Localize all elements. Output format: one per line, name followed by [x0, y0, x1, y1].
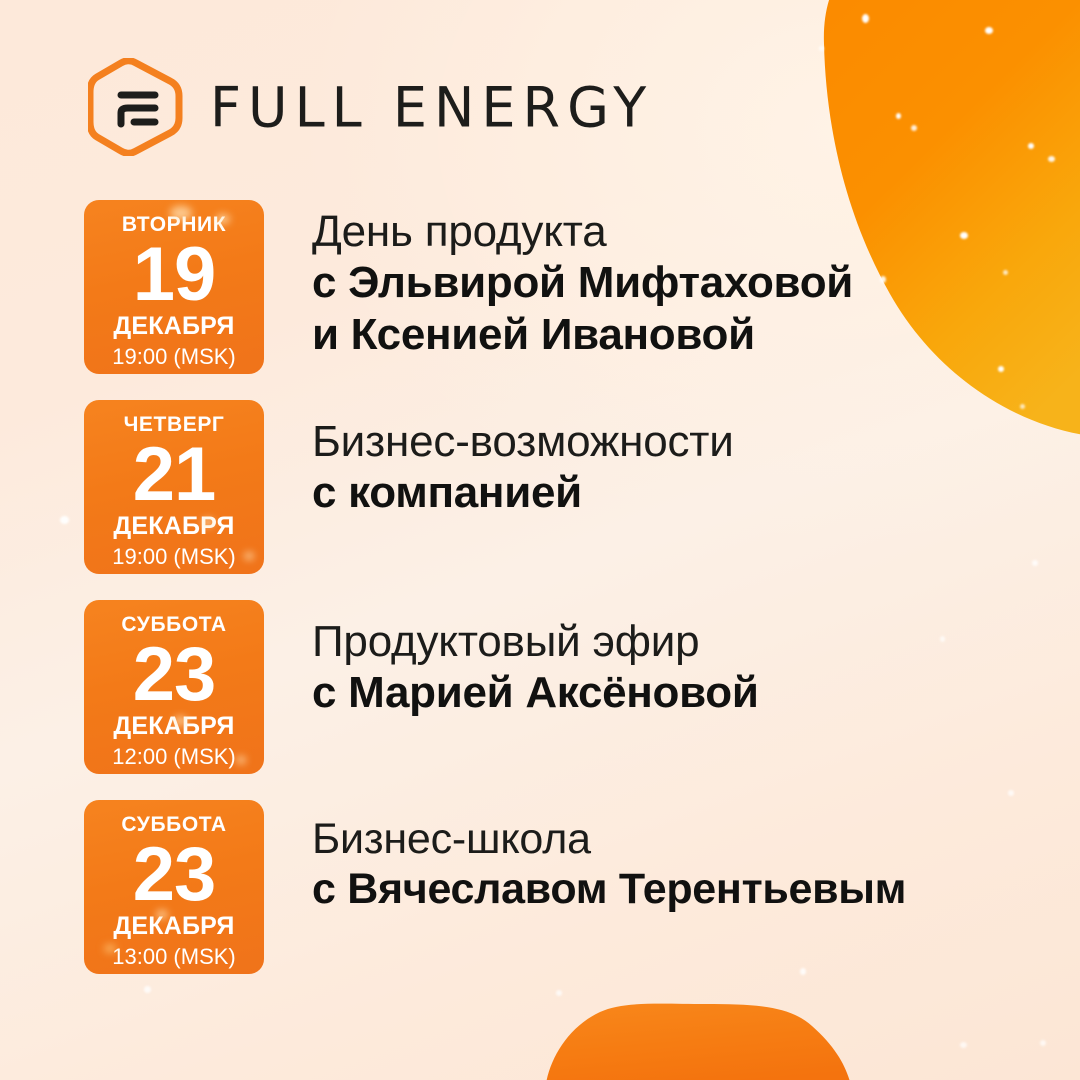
event-row[interactable]: ЧЕТВЕРГ 21 ДЕКАБРЯ 19:00 (MSK) Бизнес-во… [84, 400, 1024, 574]
event-day: 23 [133, 639, 216, 712]
poster-canvas: FULL ENERGY ВТОРНИК 19 ДЕКАБРЯ 19:00 (MS… [0, 0, 1080, 1080]
event-row[interactable]: ВТОРНИК 19 ДЕКАБРЯ 19:00 (MSK) День прод… [84, 200, 1024, 374]
event-day: 21 [133, 439, 216, 512]
bottom-blob-shape [545, 1004, 852, 1080]
sparkle-dot [1040, 1040, 1046, 1046]
sparkle-dot [862, 14, 869, 23]
sparkle-dot [896, 113, 901, 119]
sparkle-dot [556, 990, 562, 996]
event-title: Продуктовый эфир [312, 616, 759, 667]
event-host: с компанией [312, 467, 734, 518]
date-card: ВТОРНИК 19 ДЕКАБРЯ 19:00 (MSK) [84, 200, 264, 374]
event-host: с Вячеславом Терентьевым [312, 864, 906, 914]
hexagon-e-logo-icon [88, 58, 184, 156]
schedule-list: ВТОРНИК 19 ДЕКАБРЯ 19:00 (MSK) День прод… [84, 200, 1024, 974]
event-text-block: Бизнес-школа с Вячеславом Терентьевым [312, 800, 906, 915]
date-card: ЧЕТВЕРГ 21 ДЕКАБРЯ 19:00 (MSK) [84, 400, 264, 574]
event-text-block: Бизнес-возможности с компанией [312, 400, 734, 519]
event-time: 12:00 (MSK) [112, 746, 236, 768]
event-month: ДЕКАБРЯ [113, 514, 234, 539]
event-row[interactable]: СУББОТА 23 ДЕКАБРЯ 13:00 (MSK) Бизнес-шк… [84, 800, 1024, 974]
event-text-block: День продукта с Эльвирой Мифтаховой и Кс… [312, 200, 853, 360]
event-month: ДЕКАБРЯ [113, 914, 234, 939]
sparkle-dot [1032, 560, 1038, 566]
event-day: 19 [133, 239, 216, 312]
sparkle-dot [985, 27, 993, 34]
card-glow [236, 756, 246, 764]
event-row[interactable]: СУББОТА 23 ДЕКАБРЯ 12:00 (MSK) Продуктов… [84, 600, 1024, 774]
date-card: СУББОТА 23 ДЕКАБРЯ 13:00 (MSK) [84, 800, 264, 974]
sparkle-dot [60, 516, 69, 524]
event-host-line: с Вячеславом Терентьевым [312, 864, 906, 914]
sparkle-dot [960, 1042, 967, 1048]
event-title: Бизнес-школа [312, 814, 906, 864]
event-host-line: с Марией Аксёновой [312, 667, 759, 718]
card-glow [216, 214, 230, 224]
sparkle-dot [911, 125, 917, 131]
card-glow [156, 910, 168, 919]
event-time: 19:00 (MSK) [112, 546, 236, 568]
event-host: с Марией Аксёновой [312, 667, 759, 718]
event-host-line: с Эльвирой Мифтаховой [312, 257, 853, 308]
card-glow [202, 518, 214, 527]
event-host: с Эльвирой Мифтаховой и Ксенией Ивановой [312, 257, 853, 360]
event-text-block: Продуктовый эфир с Марией Аксёновой [312, 600, 759, 719]
event-title: Бизнес-возможности [312, 416, 734, 467]
sparkle-dot [819, 46, 824, 51]
brand-header: FULL ENERGY [88, 58, 653, 156]
event-host-line: и Ксенией Ивановой [312, 309, 853, 360]
date-card: СУББОТА 23 ДЕКАБРЯ 12:00 (MSK) [84, 600, 264, 774]
event-time: 19:00 (MSK) [112, 346, 236, 368]
card-glow [104, 944, 116, 953]
sparkle-dot [1028, 143, 1034, 149]
event-time: 13:00 (MSK) [112, 946, 236, 968]
event-day: 23 [133, 839, 216, 912]
event-title: День продукта [312, 206, 853, 257]
brand-name: FULL ENERGY [210, 75, 653, 139]
sparkle-dot [1048, 156, 1055, 162]
event-month: ДЕКАБРЯ [113, 314, 234, 339]
card-glow [170, 206, 192, 220]
event-host-line: с компанией [312, 467, 734, 518]
card-glow [174, 716, 187, 726]
sparkle-dot [144, 986, 151, 993]
card-glow [244, 552, 254, 560]
